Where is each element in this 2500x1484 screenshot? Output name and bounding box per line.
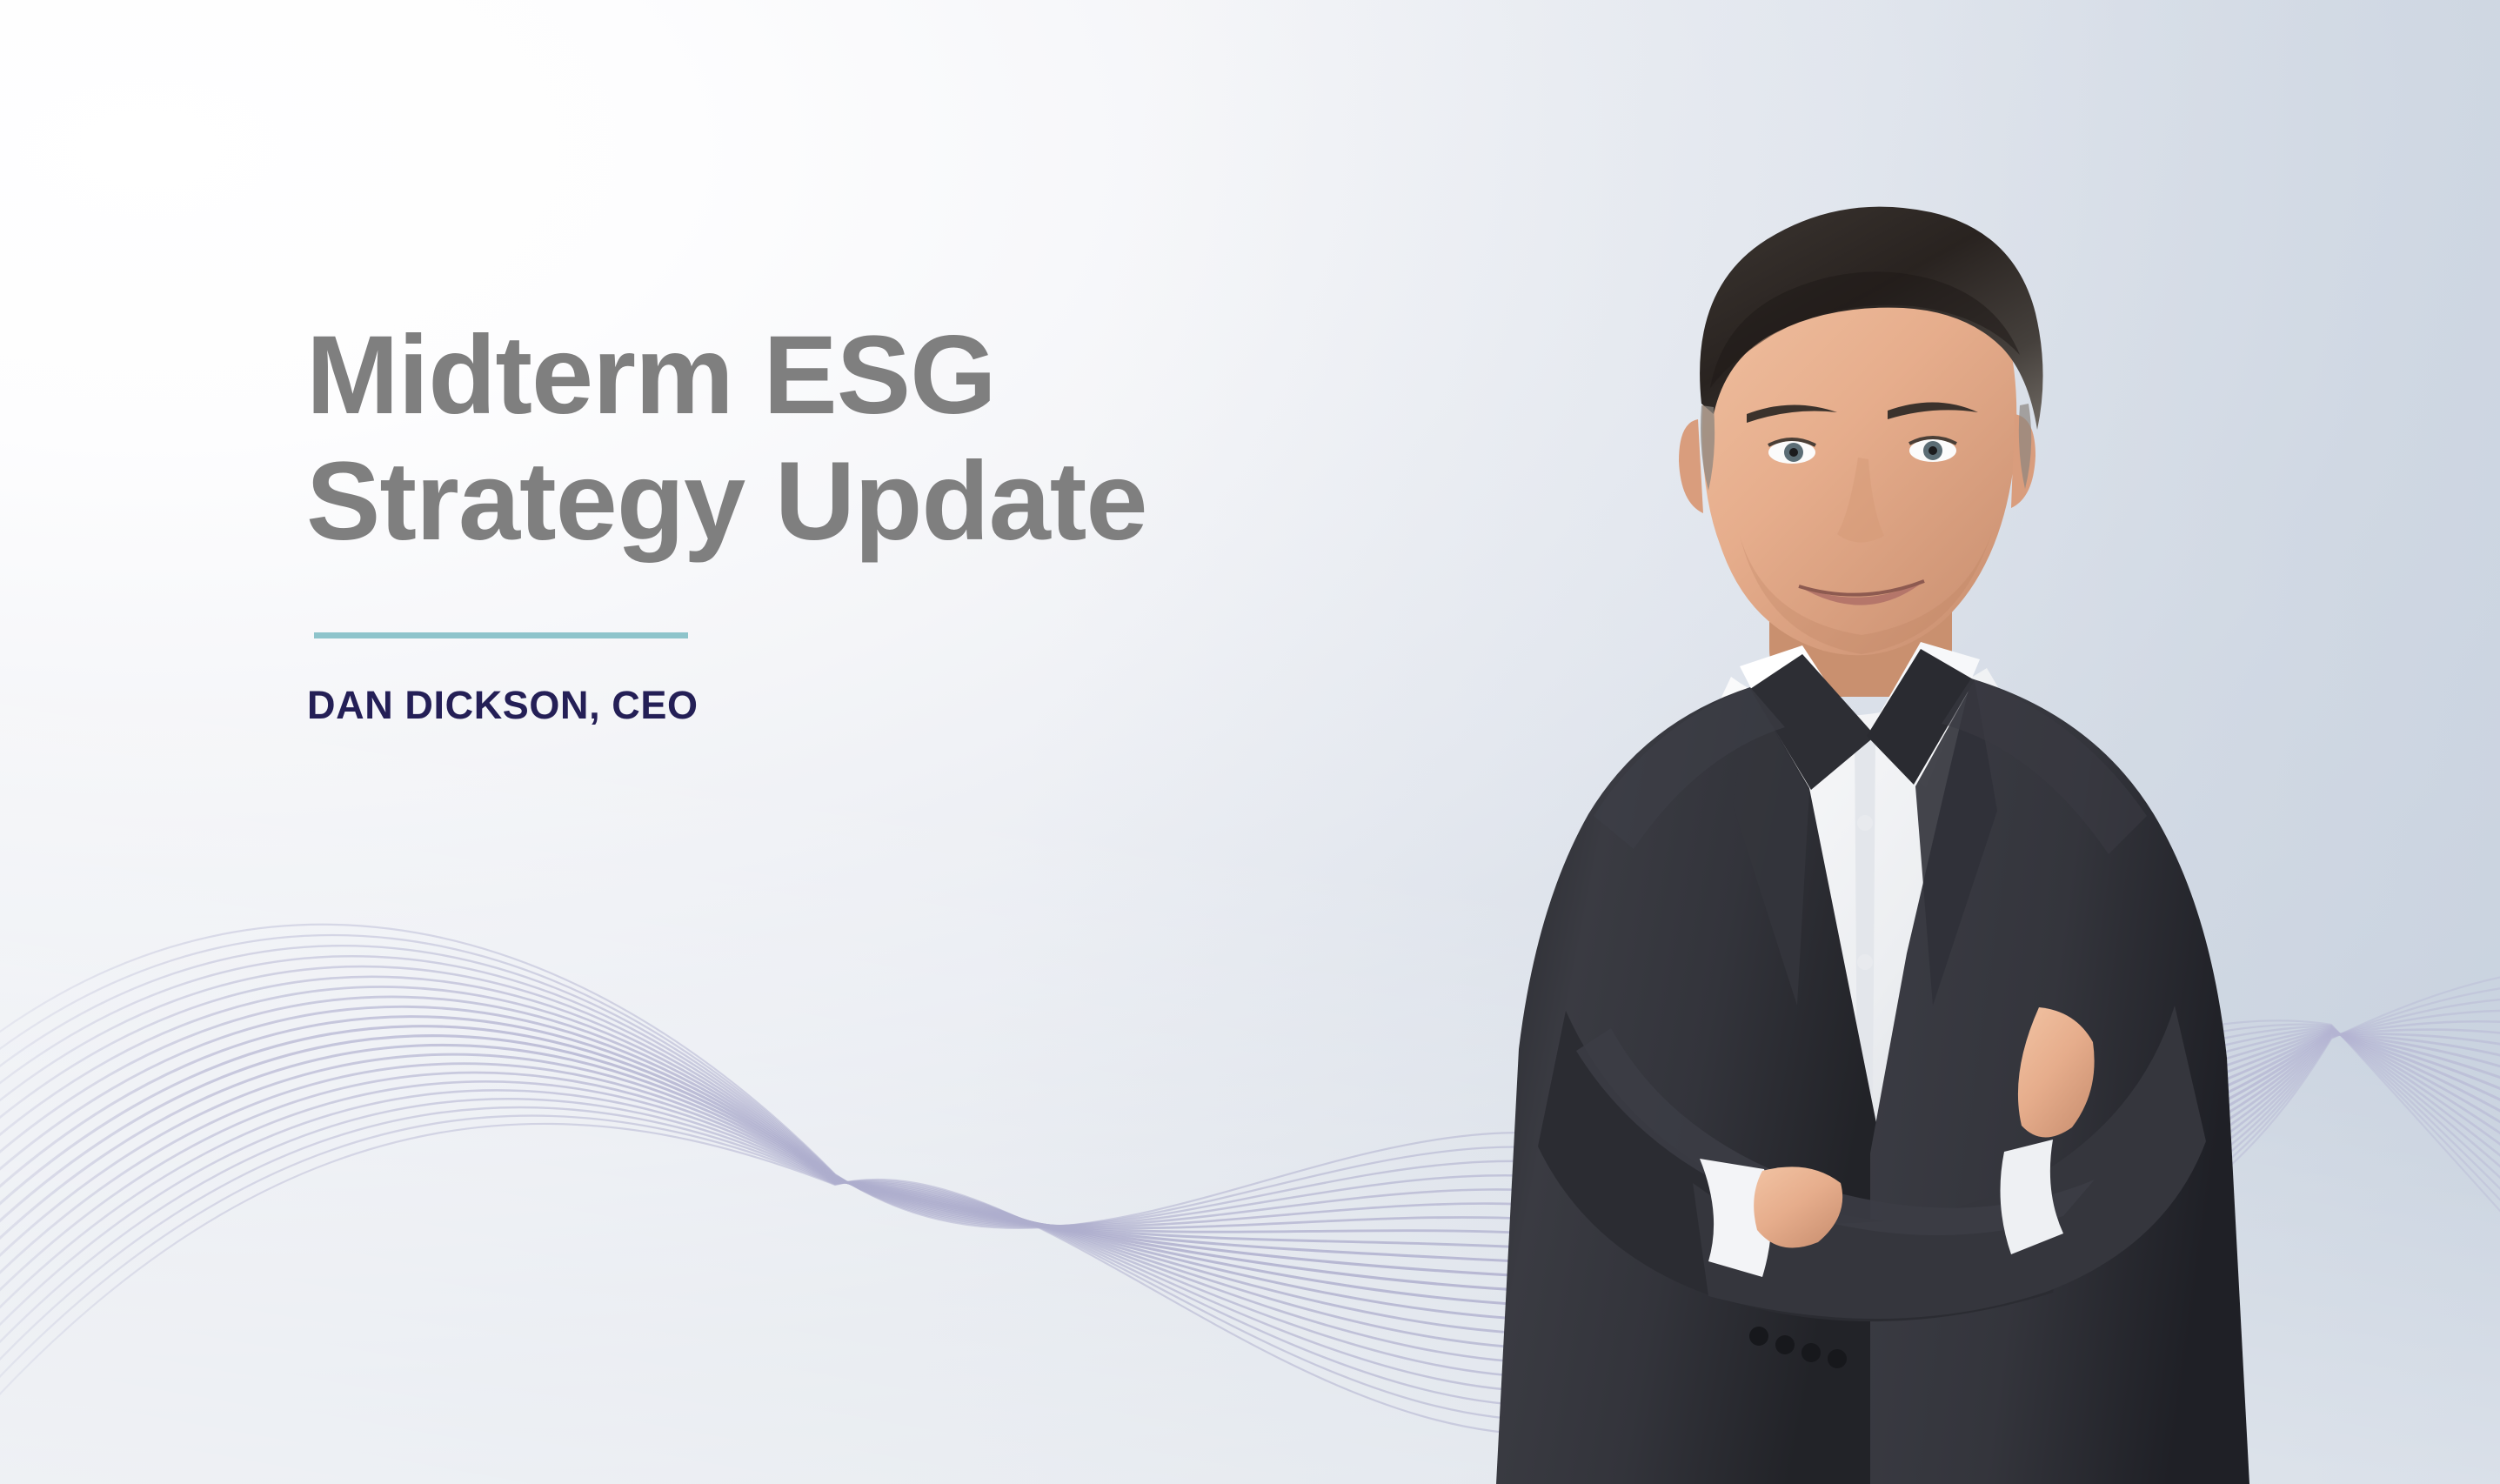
presenter-name-and-role: DAN DICKSON, CEO: [307, 683, 1437, 728]
presentation-title-slide: Midterm ESG Strategy Update DAN DICKSON,…: [0, 0, 2500, 1484]
teal-accent-rule: [314, 632, 688, 638]
presenter-portrait: [1357, 127, 2383, 1484]
title-text-block: Midterm ESG Strategy Update DAN DICKSON,…: [306, 313, 1437, 728]
page-title: Midterm ESG Strategy Update: [306, 313, 1437, 565]
